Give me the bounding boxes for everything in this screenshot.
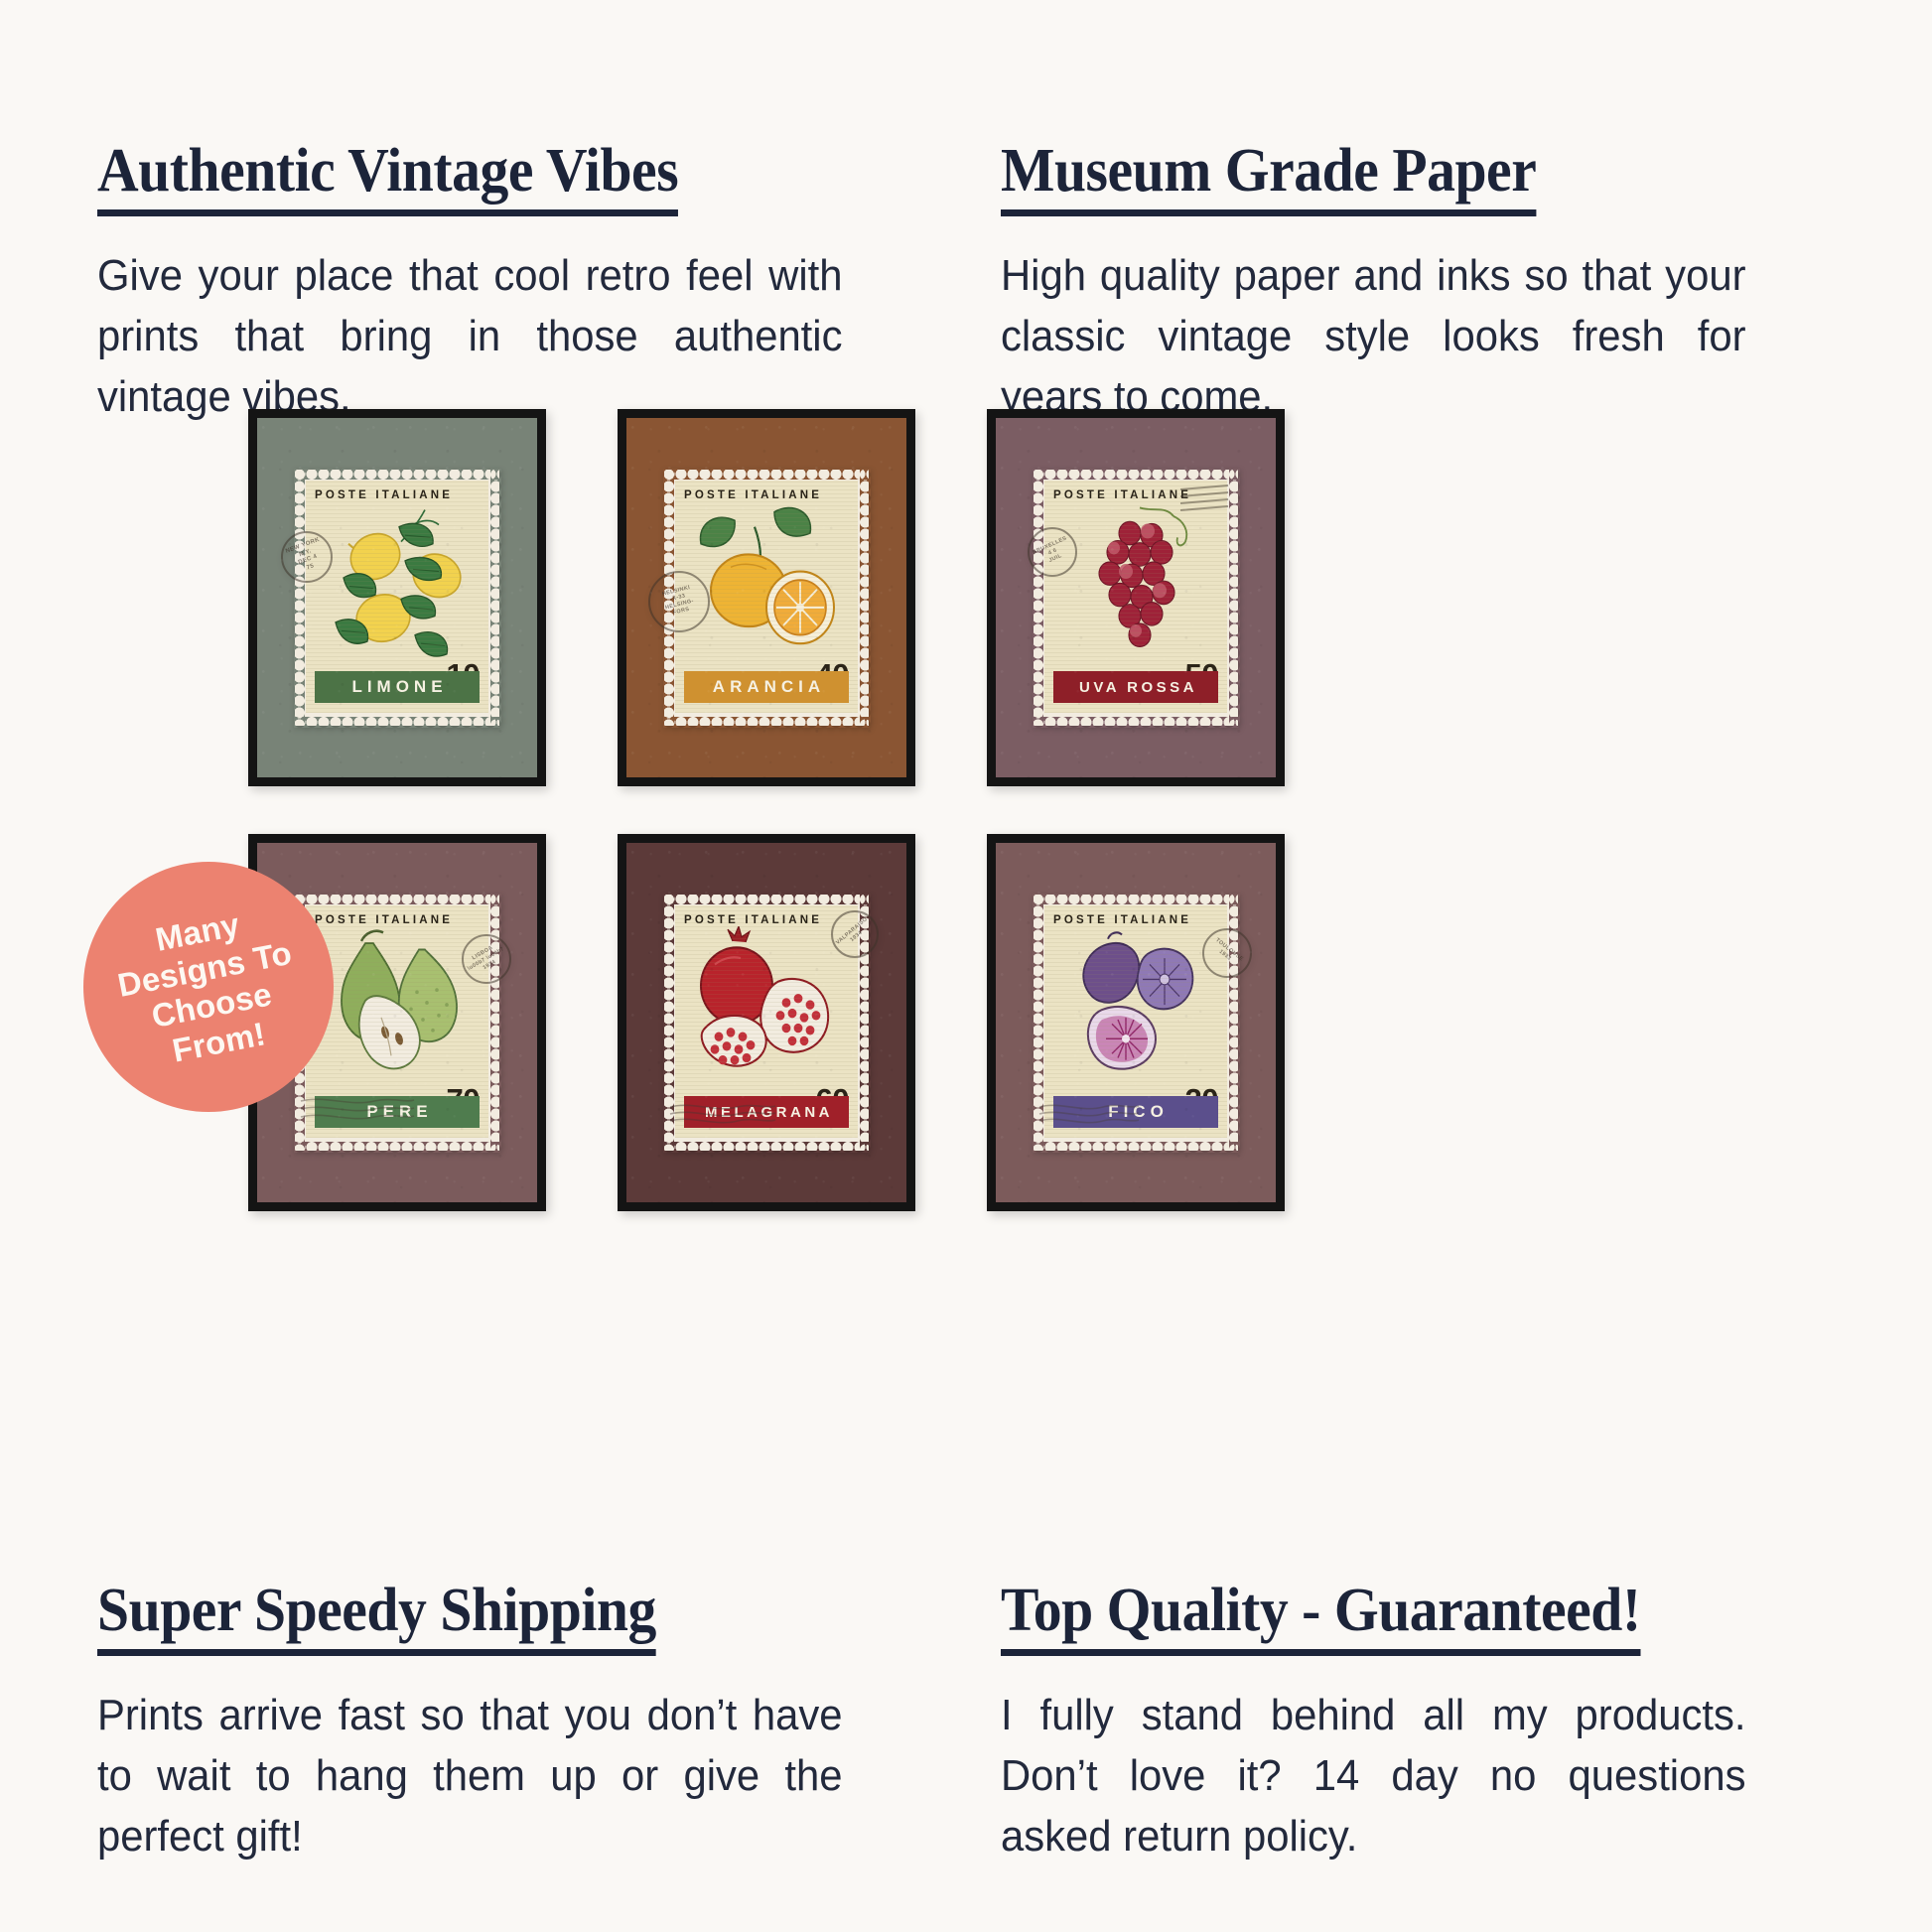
- poster-frame-uva-rossa[interactable]: POSTE ITALIANE: [987, 409, 1285, 786]
- badge-text: Many Designs To Choose From!: [108, 897, 310, 1077]
- poster-mat: POSTE ITALIANE: [626, 418, 906, 777]
- stamp-limone: POSTE ITALIANE: [295, 470, 499, 726]
- many-designs-badge[interactable]: Many Designs To Choose From!: [83, 862, 334, 1112]
- feature-body: I fully stand behind all my products. Do…: [1001, 1686, 1746, 1866]
- postmark-stamp: LISBOA\u00b7 \u00b71934: [462, 934, 511, 984]
- feature-row-bottom: Super Speedy Shipping Prints arrive fast…: [0, 1579, 1932, 1866]
- stamp-fruit-name: PERE: [361, 1102, 432, 1122]
- stamp-melagrana: POSTE ITALIANE: [664, 895, 869, 1151]
- poster-frame-arancia[interactable]: POSTE ITALIANE: [618, 409, 915, 786]
- feature-title: Top Quality - Guaranteed!: [1001, 1579, 1641, 1656]
- poster-frame-melagrana[interactable]: POSTE ITALIANE: [618, 834, 915, 1211]
- stamp-fruit-name: MELAGRANA: [700, 1104, 833, 1121]
- stamp-header: POSTE ITALIANE: [1044, 481, 1227, 501]
- stamp-header: POSTE ITALIANE: [306, 481, 488, 501]
- stamp-fruit-name: ARANCIA: [708, 677, 825, 697]
- feature-body: High quality paper and inks so that your…: [1001, 246, 1746, 427]
- postmark-stamp: NEW YORKN.Y.DEC 475: [281, 531, 333, 583]
- stamp-name-band: PERE: [315, 1096, 480, 1128]
- stamp-name-band: FICO: [1053, 1096, 1218, 1128]
- poster-mat: POSTE ITALIANE: [996, 843, 1276, 1202]
- postmark-stamp: VALPARAISO1934: [831, 910, 879, 958]
- stamp-fruit-name: UVA ROSSA: [1074, 679, 1197, 696]
- postmark-stamp: HELSINKI-X-33HELSING-FORS: [648, 571, 710, 632]
- feature-title: Museum Grade Paper: [1001, 139, 1536, 216]
- poster-gallery-grid: POSTE ITALIANE: [248, 409, 1698, 1501]
- postmark-stamp: TOULOUSE1933: [1202, 928, 1252, 978]
- stamp-artwork-fig: [1044, 926, 1227, 1096]
- stamp-name-band: MELAGRANA: [684, 1096, 849, 1128]
- feature-body: Prints arrive fast so that you don’t hav…: [97, 1686, 843, 1866]
- poster-frame-fico[interactable]: POSTE ITALIANE: [987, 834, 1285, 1211]
- stamp-fruit-name: FICO: [1103, 1102, 1169, 1122]
- feature-title: Super Speedy Shipping: [97, 1579, 656, 1656]
- stamp-header: POSTE ITALIANE: [675, 481, 858, 501]
- stamp-uva-rossa: POSTE ITALIANE: [1034, 470, 1238, 726]
- stamp-name-band: LIMONE: [315, 671, 480, 703]
- poster-mat: POSTE ITALIANE: [996, 418, 1276, 777]
- poster-mat: POSTE ITALIANE: [626, 843, 906, 1202]
- feature-title: Authentic Vintage Vibes: [97, 139, 678, 216]
- stamp-artwork-pomegranate: [675, 926, 858, 1096]
- stamp-artwork-pear: [306, 926, 488, 1096]
- stamp-fico: POSTE ITALIANE: [1034, 895, 1238, 1151]
- stamp-name-band: ARANCIA: [684, 671, 849, 703]
- stamp-artwork-grapes: [1044, 501, 1227, 671]
- stamp-fruit-name: LIMONE: [346, 677, 447, 697]
- stamp-header: POSTE ITALIANE: [675, 905, 858, 926]
- feature-authentic-vintage-vibes: Authentic Vintage Vibes Give your place …: [97, 139, 971, 427]
- postmark-stamp: BRUXELLES4 6JUIL: [1028, 527, 1077, 577]
- poster-mat: POSTE ITALIANE: [257, 418, 537, 777]
- stamp-artwork-lemon: [306, 501, 488, 671]
- feature-body: Give your place that cool retro feel wit…: [97, 246, 843, 427]
- stamp-header: POSTE ITALIANE: [306, 905, 488, 926]
- feature-museum-grade-paper: Museum Grade Paper High quality paper an…: [1001, 139, 1874, 427]
- feature-super-speedy-shipping: Super Speedy Shipping Prints arrive fast…: [97, 1579, 971, 1866]
- stamp-arancia: POSTE ITALIANE: [664, 470, 869, 726]
- feature-top-quality-guaranteed: Top Quality - Guaranteed! I fully stand …: [1001, 1579, 1874, 1866]
- stamp-header: POSTE ITALIANE: [1044, 905, 1227, 926]
- feature-row-top: Authentic Vintage Vibes Give your place …: [0, 139, 1932, 427]
- poster-frame-limone[interactable]: POSTE ITALIANE: [248, 409, 546, 786]
- stamp-name-band: UVA ROSSA: [1053, 671, 1218, 703]
